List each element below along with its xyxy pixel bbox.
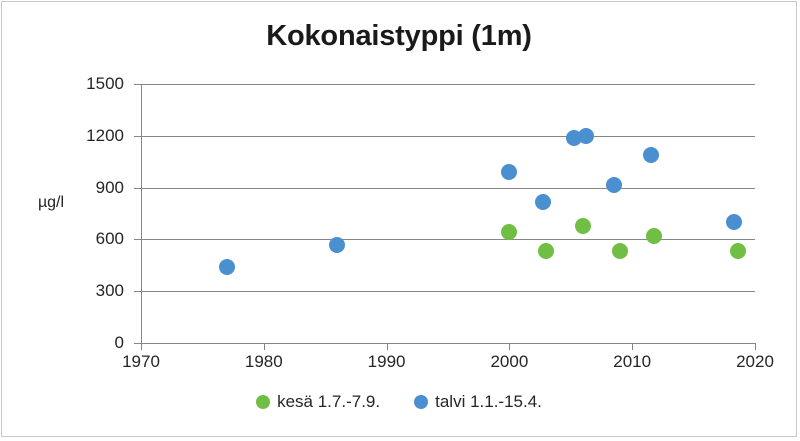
- y-tick-label: 900: [64, 178, 124, 198]
- x-tick-mark: [264, 343, 265, 350]
- x-tick-label: 2020: [720, 352, 790, 372]
- chart-legend: kesä 1.7.-7.9.talvi 1.1.-15.4.: [2, 392, 796, 412]
- data-point: [219, 259, 235, 275]
- data-point: [730, 243, 746, 259]
- gridline-y: [141, 291, 755, 292]
- data-point: [575, 218, 591, 234]
- y-tick-label: 600: [64, 229, 124, 249]
- data-point: [329, 237, 345, 253]
- data-point: [606, 177, 622, 193]
- gridline-y: [141, 84, 755, 85]
- x-axis-line: [141, 343, 756, 344]
- legend-item[interactable]: talvi 1.1.-15.4.: [414, 392, 542, 412]
- y-tick-mark: [134, 343, 141, 344]
- x-tick-label: 1990: [352, 352, 422, 372]
- chart-container: Kokonaistyppi (1m) µg/l 0300600900120015…: [1, 1, 797, 437]
- y-tick-label: 1200: [64, 126, 124, 146]
- data-point: [643, 147, 659, 163]
- data-point: [646, 228, 662, 244]
- y-tick-mark: [134, 136, 141, 137]
- y-tick-mark: [134, 239, 141, 240]
- x-tick-label: 2010: [597, 352, 667, 372]
- x-tick-mark: [632, 343, 633, 350]
- legend-marker-icon: [256, 395, 270, 409]
- legend-marker-icon: [414, 395, 428, 409]
- gridline-y: [141, 188, 755, 189]
- y-tick-label: 300: [64, 281, 124, 301]
- x-tick-mark: [509, 343, 510, 350]
- chart-title: Kokonaistyppi (1m): [2, 20, 796, 53]
- data-point: [535, 194, 551, 210]
- plot-area: [141, 84, 755, 343]
- data-point: [612, 243, 628, 259]
- y-tick-mark: [134, 188, 141, 189]
- data-point: [501, 224, 517, 240]
- gridline-y: [141, 136, 755, 137]
- data-point: [501, 164, 517, 180]
- x-tick-mark: [755, 343, 756, 350]
- y-tick-mark: [134, 291, 141, 292]
- x-tick-mark: [141, 343, 142, 350]
- x-tick-label: 1970: [106, 352, 176, 372]
- x-tick-label: 1980: [229, 352, 299, 372]
- data-point: [726, 214, 742, 230]
- data-point: [578, 128, 594, 144]
- x-tick-mark: [387, 343, 388, 350]
- legend-label: talvi 1.1.-15.4.: [435, 392, 542, 412]
- y-tick-label: 0: [64, 333, 124, 353]
- x-tick-label: 2000: [474, 352, 544, 372]
- data-point: [538, 243, 554, 259]
- legend-item[interactable]: kesä 1.7.-7.9.: [256, 392, 380, 412]
- y-tick-label: 1500: [64, 74, 124, 94]
- gridline-y: [141, 239, 755, 240]
- legend-label: kesä 1.7.-7.9.: [277, 392, 380, 412]
- y-tick-mark: [134, 84, 141, 85]
